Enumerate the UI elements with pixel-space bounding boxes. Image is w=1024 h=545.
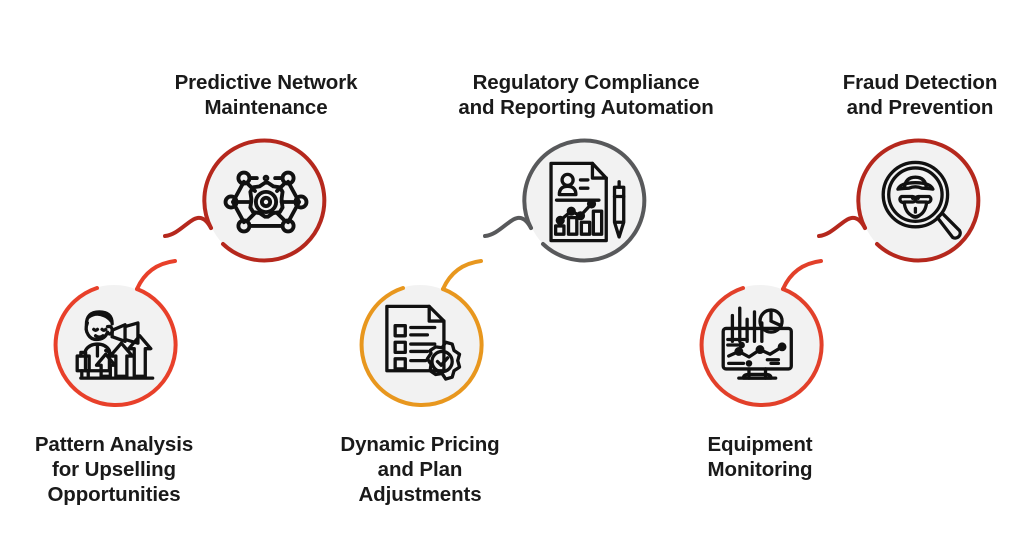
label-line: Equipment	[610, 432, 910, 457]
infographic-canvas: Pattern Analysisfor UpsellingOpportuniti…	[0, 0, 1024, 545]
node-label-predictive-network-maintenance: Predictive NetworkMaintenance	[116, 70, 416, 120]
node-label-pattern-analysis: Pattern Analysisfor UpsellingOpportuniti…	[0, 432, 264, 507]
node-label-dynamic-pricing: Dynamic Pricingand PlanAdjustments	[270, 432, 570, 507]
label-line: and Reporting Automation	[436, 95, 736, 120]
label-line: Pattern Analysis	[0, 432, 264, 457]
label-line: Opportunities	[0, 482, 264, 507]
label-line: Maintenance	[116, 95, 416, 120]
label-line: Monitoring	[610, 457, 910, 482]
node-circle-fraud-detection	[815, 102, 1024, 302]
node-label-equipment-monitoring: EquipmentMonitoring	[610, 432, 910, 482]
label-line: Fraud Detection	[770, 70, 1024, 95]
node-label-regulatory-compliance: Regulatory Complianceand Reporting Autom…	[436, 70, 736, 120]
label-line: and Plan	[270, 457, 570, 482]
label-line: Dynamic Pricing	[270, 432, 570, 457]
label-line: and Prevention	[770, 95, 1024, 120]
label-line: Adjustments	[270, 482, 570, 507]
label-line: Regulatory Compliance	[436, 70, 736, 95]
label-line: Predictive Network	[116, 70, 416, 95]
ring-graphic	[815, 102, 1024, 302]
node-label-fraud-detection: Fraud Detectionand Prevention	[770, 70, 1024, 120]
label-line: for Upselling	[0, 457, 264, 482]
